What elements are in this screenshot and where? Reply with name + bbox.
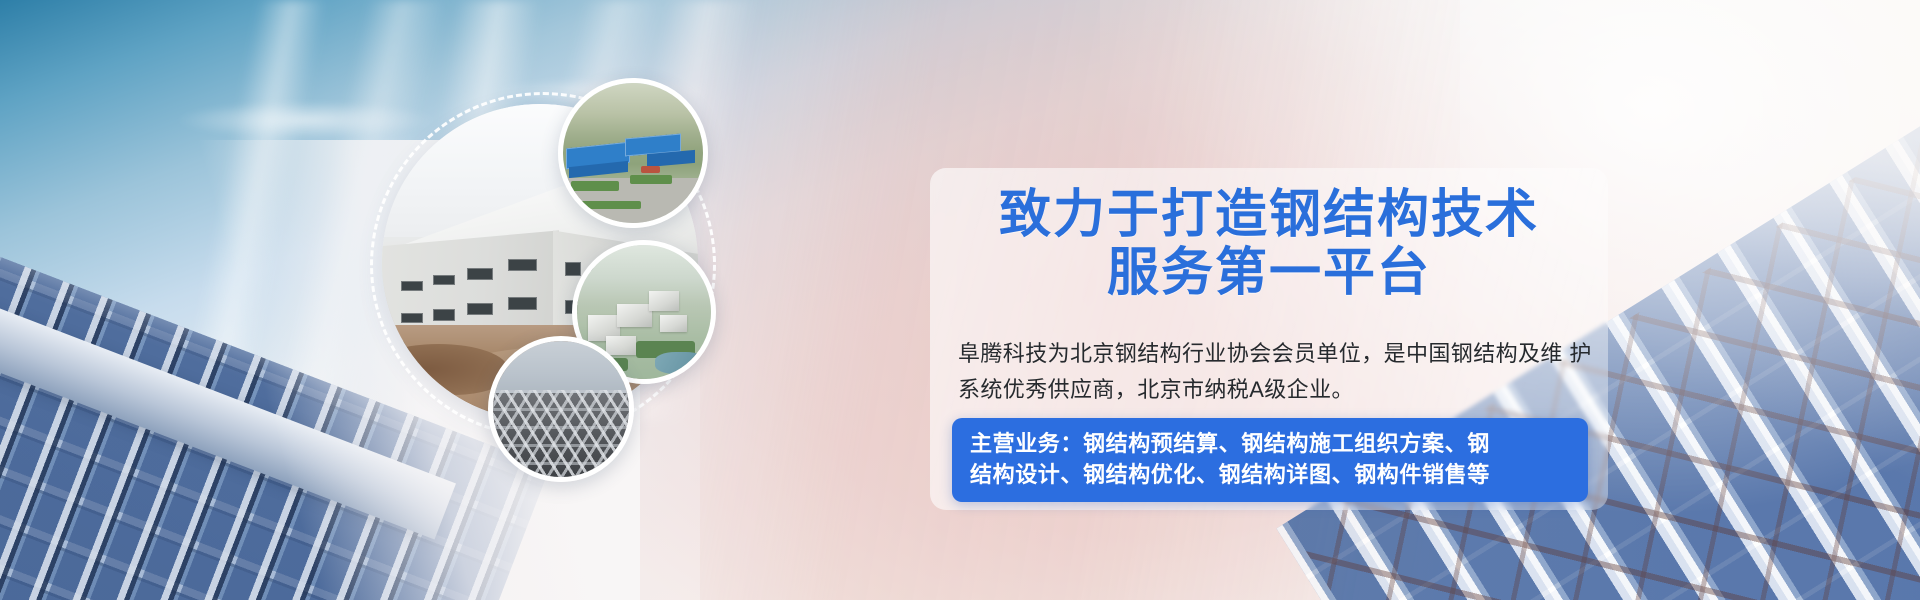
- campus-building: [660, 315, 687, 332]
- services-badge-line-1: 主营业务：钢结构预结算、钢结构施工组织方案、钢: [970, 431, 1490, 456]
- steel-truss-thumbnail: [488, 336, 634, 482]
- sports-court: [641, 166, 659, 173]
- description-text: 阜腾科技为北京钢结构行业协会会员单位，是中国钢结构及维 护系统优秀供应商，北京市…: [958, 336, 1596, 407]
- campus-building: [617, 304, 652, 327]
- truss-lattice: [488, 390, 634, 480]
- services-badge: 主营业务：钢结构预结算、钢结构施工组织方案、钢 结构设计、钢结构优化、钢结构详图…: [952, 418, 1588, 502]
- greenery: [630, 175, 672, 183]
- services-badge-line-2: 结构设计、钢结构优化、钢结构详图、钢构件销售等: [970, 459, 1570, 490]
- greenery: [577, 201, 641, 209]
- description-line-1: 阜腾科技为北京钢结构行业协会会员单位，是中国钢结构及维: [958, 341, 1563, 366]
- campus-building: [649, 291, 678, 311]
- headline: 致力于打造钢结构技术 服务第一平台: [930, 186, 1608, 302]
- waterway: [655, 352, 706, 373]
- headline-line-2: 服务第一平台: [930, 244, 1608, 302]
- photo-collage: [370, 58, 790, 508]
- hero-banner: 致力于打造钢结构技术 服务第一平台 阜腾科技为北京钢结构行业协会会员单位，是中国…: [0, 0, 1920, 600]
- factory-aerial-thumbnail: [558, 78, 708, 228]
- headline-line-1: 致力于打造钢结构技术: [999, 184, 1539, 245]
- greenery: [571, 181, 619, 191]
